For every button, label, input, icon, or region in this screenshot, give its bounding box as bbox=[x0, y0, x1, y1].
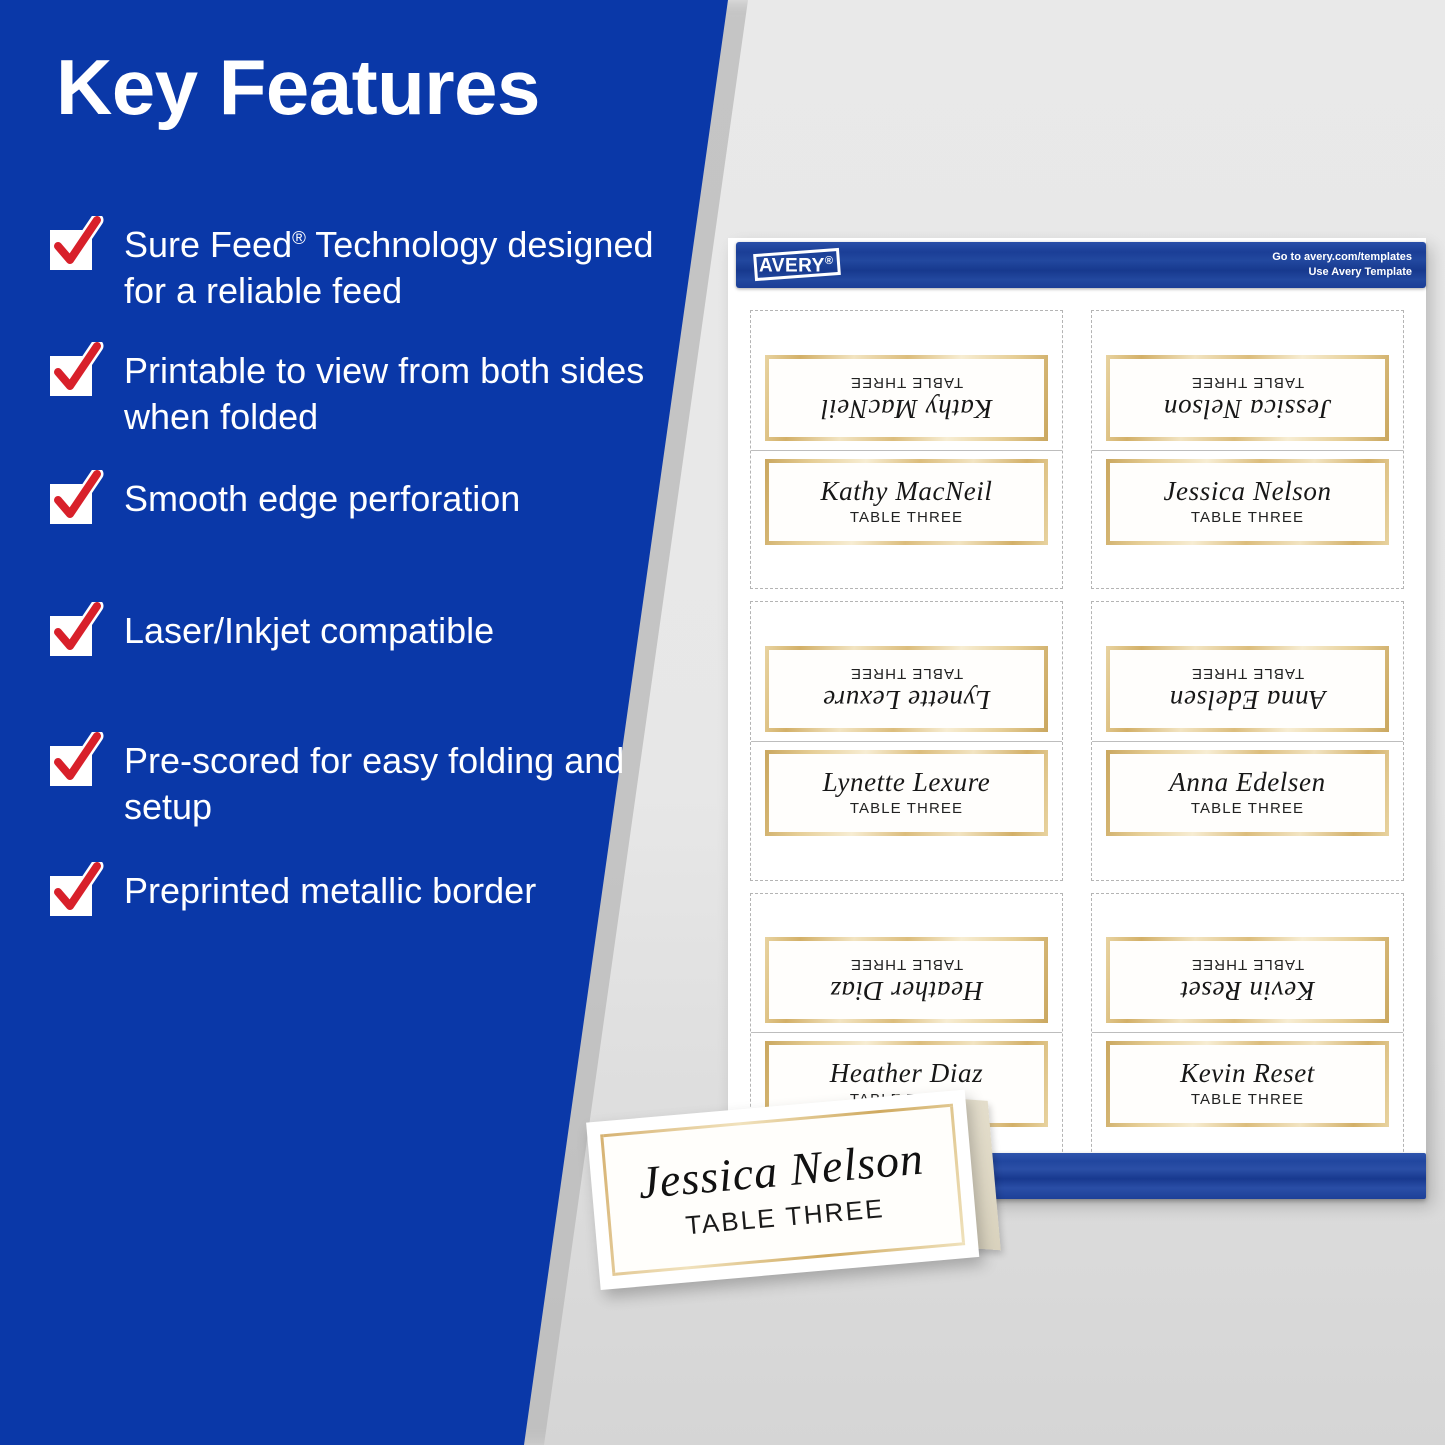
guest-name: Heather Diaz bbox=[830, 977, 983, 1004]
fold-line bbox=[1092, 450, 1403, 451]
guest-name: Anna Edelsen bbox=[1169, 769, 1325, 796]
card-face-front: Jessica Nelson TABLE THREE bbox=[1106, 459, 1389, 545]
feature-label: Preprinted metallic border bbox=[124, 864, 536, 914]
checkmark-icon bbox=[50, 350, 96, 396]
table-assignment: TABLE THREE bbox=[1191, 956, 1304, 973]
card-face-front: Anna Edelsen TABLE THREE bbox=[1106, 750, 1389, 836]
sheet-paper: AVERY® Go to avery.com/templates Use Ave… bbox=[728, 238, 1426, 1198]
card-face-front: Kathy MacNeil TABLE THREE bbox=[765, 459, 1048, 545]
guest-name: Anna Edelsen bbox=[1169, 686, 1325, 713]
template-url-line: Go to avery.com/templates bbox=[1272, 250, 1412, 265]
card-face-mirrored: Jessica Nelson TABLE THREE bbox=[1106, 355, 1389, 441]
checkmark-icon bbox=[50, 870, 96, 916]
card-face-mirrored: Lynette Lexure TABLE THREE bbox=[765, 646, 1048, 732]
fold-line bbox=[751, 450, 1062, 451]
feature-item-preprinted-metallic-border: Preprinted metallic border bbox=[50, 864, 690, 916]
feature-item-laser-inkjet: Laser/Inkjet compatible bbox=[50, 604, 690, 656]
folded-place-card-sample: Jessica Nelson TABLE THREE bbox=[586, 1086, 1022, 1322]
card-face-front: Lynette Lexure TABLE THREE bbox=[765, 750, 1048, 836]
guest-name: Heather Diaz bbox=[830, 1060, 983, 1087]
table-assignment: TABLE THREE bbox=[1191, 1091, 1304, 1108]
feature-label: Printable to view from both sides when f… bbox=[124, 344, 690, 440]
feature-label: Laser/Inkjet compatible bbox=[124, 604, 494, 654]
table-assignment: TABLE THREE bbox=[1191, 800, 1304, 817]
checkmark-icon bbox=[50, 740, 96, 786]
card-face-mirrored: Heather Diaz TABLE THREE bbox=[765, 937, 1048, 1023]
place-card: Lynette Lexure TABLE THREE Lynette Lexur… bbox=[750, 601, 1063, 880]
place-card: Anna Edelsen TABLE THREE Anna Edelsen TA… bbox=[1091, 601, 1404, 880]
place-card: Kevin Reset TABLE THREE Kevin Reset TABL… bbox=[1091, 893, 1404, 1172]
checkmark-icon bbox=[50, 478, 96, 524]
table-assignment: TABLE THREE bbox=[1191, 374, 1304, 391]
guest-name: Kathy MacNeil bbox=[821, 395, 993, 422]
feature-item-pre-scored: Pre-scored for easy folding and setup bbox=[50, 734, 690, 830]
guest-name: Jessica Nelson bbox=[1163, 478, 1331, 505]
table-assignment: TABLE THREE bbox=[850, 374, 963, 391]
table-assignment: TABLE THREE bbox=[1191, 509, 1304, 526]
template-use-line: Use Avery Template bbox=[1272, 265, 1412, 280]
page-title: Key Features bbox=[56, 48, 540, 126]
feature-item-sure-feed: Sure Feed® Technology designed for a rel… bbox=[50, 218, 690, 314]
card-face-mirrored: Anna Edelsen TABLE THREE bbox=[1106, 646, 1389, 732]
card-face-mirrored: Kathy MacNeil TABLE THREE bbox=[765, 355, 1048, 441]
checkmark-icon bbox=[50, 610, 96, 656]
feature-label: Pre-scored for easy folding and setup bbox=[124, 734, 690, 830]
table-assignment: TABLE THREE bbox=[850, 956, 963, 973]
place-card: Jessica Nelson TABLE THREE Jessica Nelso… bbox=[1091, 310, 1404, 589]
card-face-front: Kevin Reset TABLE THREE bbox=[1106, 1041, 1389, 1127]
feature-label: Sure Feed® Technology designed for a rel… bbox=[124, 218, 690, 314]
fold-line bbox=[751, 741, 1062, 742]
product-feature-graphic: Key Features Sure Feed® Technology desig… bbox=[0, 0, 1445, 1445]
fold-line bbox=[1092, 741, 1403, 742]
place-card: Kathy MacNeil TABLE THREE Kathy MacNeil … bbox=[750, 310, 1063, 589]
template-instructions: Go to avery.com/templates Use Avery Temp… bbox=[1272, 250, 1412, 280]
guest-name: Kevin Reset bbox=[1180, 977, 1315, 1004]
fold-line bbox=[751, 1032, 1062, 1033]
table-assignment: TABLE THREE bbox=[850, 665, 963, 682]
avery-template-sheet: AVERY® Go to avery.com/templates Use Ave… bbox=[728, 238, 1426, 1198]
guest-name: Lynette Lexure bbox=[823, 769, 991, 796]
feature-item-smooth-edge-perforation: Smooth edge perforation bbox=[50, 472, 690, 524]
card-face-mirrored: Kevin Reset TABLE THREE bbox=[1106, 937, 1389, 1023]
feature-list: Sure Feed® Technology designed for a rel… bbox=[50, 218, 690, 916]
gold-border: Jessica Nelson TABLE THREE bbox=[600, 1104, 965, 1276]
guest-name: Jessica Nelson bbox=[1163, 395, 1331, 422]
checkmark-icon bbox=[50, 224, 96, 270]
feature-label: Smooth edge perforation bbox=[124, 472, 520, 522]
table-assignment: TABLE THREE bbox=[850, 509, 963, 526]
avery-logo: AVERY® bbox=[752, 250, 844, 280]
sheet-header-bar: AVERY® Go to avery.com/templates Use Ave… bbox=[736, 242, 1426, 288]
card-front-panel: Jessica Nelson TABLE THREE bbox=[586, 1090, 979, 1290]
feature-item-printable-both-sides: Printable to view from both sides when f… bbox=[50, 344, 690, 440]
guest-name: Kevin Reset bbox=[1180, 1060, 1315, 1087]
table-assignment: TABLE THREE bbox=[1191, 665, 1304, 682]
fold-line bbox=[1092, 1032, 1403, 1033]
guest-name: Lynette Lexure bbox=[823, 686, 991, 713]
guest-name: Kathy MacNeil bbox=[820, 478, 992, 505]
place-card-grid: Kathy MacNeil TABLE THREE Kathy MacNeil … bbox=[750, 310, 1404, 1172]
table-assignment: TABLE THREE bbox=[850, 800, 963, 817]
